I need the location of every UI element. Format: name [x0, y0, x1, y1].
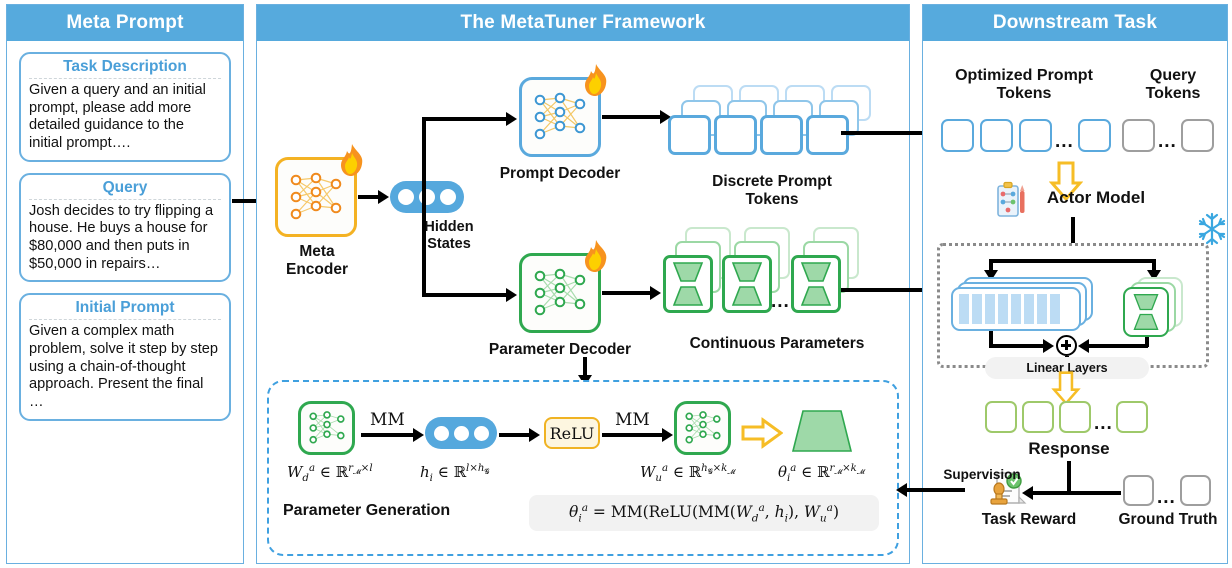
task-reward-label: Task Reward	[961, 511, 1097, 529]
label-line-1: Hidden	[409, 219, 489, 236]
hidden-states-pill	[390, 181, 464, 213]
w-up-module	[674, 401, 731, 455]
card-title: Query	[29, 179, 221, 200]
adapter-hourglass-icon	[730, 261, 764, 307]
arrow-encoder-to-hidden	[358, 195, 380, 199]
query-tokens-ellipsis: ...	[1158, 131, 1177, 153]
linear-layer-bars	[959, 294, 1060, 324]
parameter-generation-equation: θia = MM(ReLU(MM(Wda, hi), Wua)	[529, 495, 879, 531]
neural-net-icon	[681, 408, 725, 448]
h-i-pill	[425, 417, 497, 449]
generated-adapter-trapezoid-icon	[791, 409, 853, 453]
label-line-2: Encoder	[265, 261, 369, 279]
label-line-1: Query	[1121, 67, 1225, 85]
optimized-token	[1019, 119, 1052, 152]
flame-icon-prompt-decoder	[581, 63, 611, 97]
w-down-module	[298, 401, 355, 455]
arrow-head	[378, 190, 389, 204]
pill-dot	[398, 189, 414, 205]
arrow-gt-to-reward	[1033, 491, 1121, 495]
arrow-actor-split	[989, 259, 1155, 263]
pill-dot	[454, 426, 469, 441]
w-up-math: Wua ∈ ℝh𝓖×k𝓜	[640, 463, 735, 484]
label-line-2: Tokens	[929, 85, 1119, 103]
arrow-head	[413, 428, 424, 442]
layer-bar	[998, 294, 1008, 324]
arrow-promptdec-to-tokens	[602, 115, 662, 119]
parameter-generation-title: Parameter Generation	[283, 502, 493, 520]
adapter-hourglass-icon	[671, 261, 705, 307]
query-tokens-label: Query Tokens	[1121, 67, 1225, 103]
response-label: Response	[999, 439, 1139, 458]
optimized-token	[941, 119, 974, 152]
flame-icon-parameter-decoder	[581, 239, 611, 273]
prompt-decoder-label: Prompt Decoder	[495, 165, 625, 183]
downstream-task-panel: Downstream Task Optimized Prompt Tokens …	[922, 4, 1228, 564]
arrow-head	[1043, 339, 1054, 353]
arrow-supervision	[905, 488, 965, 492]
mm-label-1: MM	[370, 410, 405, 430]
layer-bar	[1011, 294, 1021, 324]
arrow-split-top	[422, 117, 508, 121]
response-token	[985, 401, 1017, 433]
token-front	[668, 115, 711, 155]
layer-bar	[1024, 294, 1034, 324]
token-front	[714, 115, 757, 155]
arrow-head	[662, 428, 673, 442]
params-ellipsis: ...	[771, 291, 790, 313]
card-initial-prompt: Initial Prompt Given a complex math prob…	[19, 293, 231, 420]
arrow-head	[650, 286, 661, 300]
label-line-2: Tokens	[672, 191, 872, 209]
token-front	[760, 115, 803, 155]
optimized-tokens-ellipsis: ...	[1055, 131, 1074, 153]
arrow-wd-to-h	[361, 433, 415, 437]
label-line-1: Discrete Prompt	[672, 173, 872, 191]
label-line-2: Tokens	[1121, 85, 1225, 103]
ground-truth-token	[1123, 475, 1154, 506]
layer-bar	[1050, 294, 1060, 324]
supervision-label: Supervision	[927, 467, 1037, 482]
layer-bar	[1037, 294, 1047, 324]
adapter-hourglass-icon	[1130, 293, 1162, 331]
label-line-1: Meta	[265, 243, 369, 261]
response-ellipsis: ...	[1094, 413, 1113, 435]
h-i-math: hi ∈ ℝl×h𝓖	[420, 463, 489, 484]
framework-title: The MetaTuner Framework	[257, 5, 909, 41]
arrow-h-to-relu	[499, 433, 531, 437]
arrow-head	[506, 112, 517, 126]
arrow-relu-to-wu	[602, 433, 664, 437]
w-down-math: Wda ∈ ℝr𝓜×l	[287, 463, 373, 484]
arrow-linear-to-plus	[989, 344, 1045, 348]
arrow-head	[896, 483, 907, 497]
framework-panel: The MetaTuner Framework Meta Encoder Hid…	[256, 4, 910, 564]
yellow-arrow-down-to-response-icon	[1049, 371, 1083, 405]
card-body: Given a complex math problem, solve it s…	[29, 323, 221, 411]
parameter-decoder-label: Parameter Decoder	[485, 341, 635, 359]
card-task-description: Task Description Given a query and an in…	[19, 52, 231, 162]
layer-bar	[985, 294, 995, 324]
clipboard-icon	[995, 181, 1027, 219]
pill-dot	[440, 189, 456, 205]
card-query: Query Josh decides to try flipping a hou…	[19, 173, 231, 283]
ground-truth-label: Ground Truth	[1107, 511, 1229, 529]
relu-box: ReLU	[544, 417, 600, 449]
continuous-parameters-label: Continuous Parameters	[657, 335, 897, 353]
yellow-arrow-right-icon	[741, 417, 783, 449]
card-body: Given a query and an initial prompt, ple…	[29, 82, 221, 153]
card-title: Task Description	[29, 58, 221, 79]
response-token	[1116, 401, 1148, 433]
arrow-response-down	[1067, 461, 1071, 493]
token-front	[806, 115, 849, 155]
arrow-split-trunk	[422, 117, 426, 297]
snowflake-icon	[1195, 210, 1229, 248]
optimized-token	[1078, 119, 1111, 152]
downstream-title: Downstream Task	[923, 5, 1227, 41]
theta-math: θia ∈ ℝr𝓜×k𝓜	[778, 463, 865, 484]
arrow-split-bottom	[422, 293, 508, 297]
adapter-hourglass-icon	[799, 261, 833, 307]
discrete-tokens-label: Discrete Prompt Tokens	[672, 173, 872, 208]
arrow-paramdec-to-params	[602, 291, 652, 295]
layer-bar	[972, 294, 982, 324]
query-token	[1181, 119, 1214, 152]
equation-text: θia = MM(ReLU(MM(Wda, hi), Wua)	[569, 502, 839, 524]
response-token	[1022, 401, 1054, 433]
meta-prompt-panel: Meta Prompt Task Description Given a que…	[6, 4, 244, 564]
arrow-head	[529, 428, 540, 442]
arrow-adapter-to-plus	[1089, 344, 1148, 348]
meta-prompt-title: Meta Prompt	[7, 5, 243, 41]
optimized-token	[980, 119, 1013, 152]
arrow-head	[506, 288, 517, 302]
pill-dot	[474, 426, 489, 441]
ground-truth-ellipsis: ...	[1157, 487, 1176, 509]
flame-icon-meta-encoder	[337, 143, 367, 177]
layer-bar	[959, 294, 969, 324]
mm-label-2: MM	[615, 410, 650, 430]
merge-plus-icon	[1056, 335, 1077, 356]
arrow-head	[1078, 339, 1089, 353]
meta-encoder-label: Meta Encoder	[265, 243, 369, 278]
actor-model-label: Actor Model	[1031, 188, 1161, 207]
optimized-tokens-label: Optimized Prompt Tokens	[929, 67, 1119, 103]
label-line-2: States	[409, 236, 489, 253]
neural-net-icon	[305, 408, 349, 448]
response-token	[1059, 401, 1091, 433]
hidden-states-label: Hidden States	[409, 219, 489, 252]
card-title: Initial Prompt	[29, 299, 221, 320]
card-body: Josh decides to try flipping a house. He…	[29, 203, 221, 274]
pill-dot	[434, 426, 449, 441]
query-token	[1122, 119, 1155, 152]
ground-truth-token	[1180, 475, 1211, 506]
label-line-1: Optimized Prompt	[929, 67, 1119, 85]
